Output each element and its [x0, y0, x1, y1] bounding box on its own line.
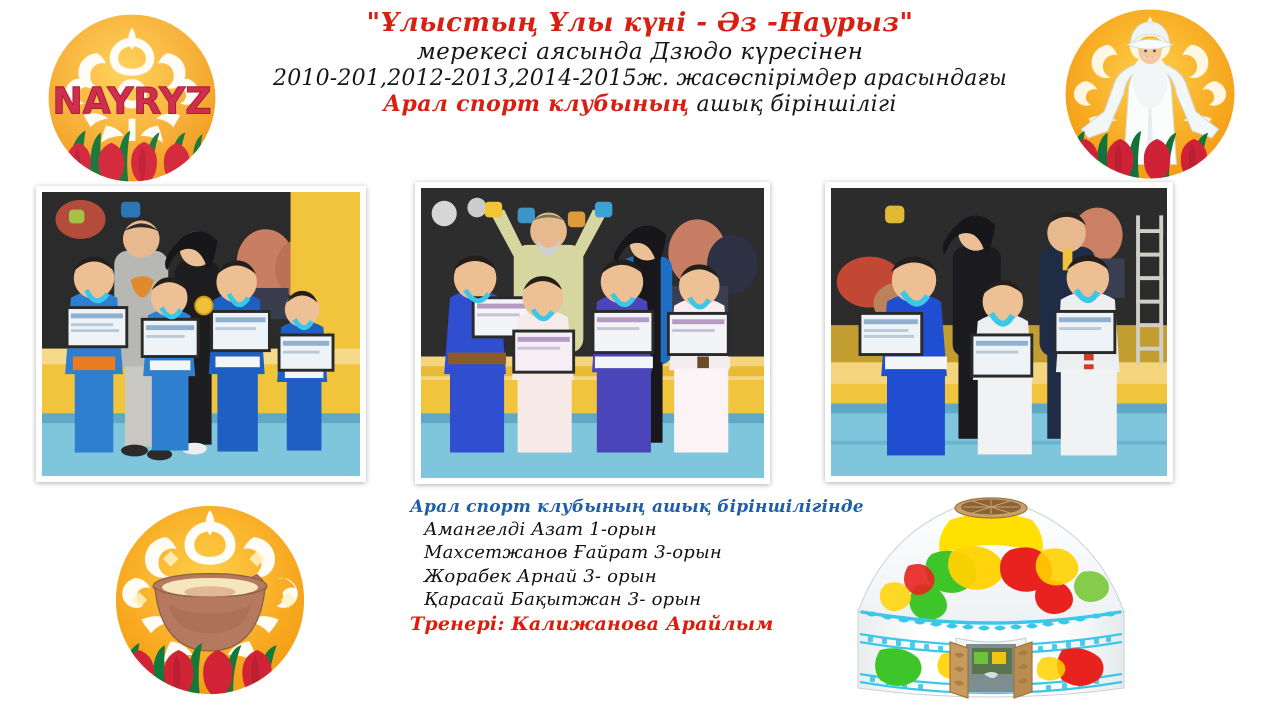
- team-photo-right: [825, 182, 1173, 482]
- kazakh-yurt-illustration: [846, 492, 1136, 710]
- title-line-2: мерекесі аясында Дзюдо күресінен: [220, 39, 1060, 66]
- title-line-1: "Ұлыстың Ұлы күні - Әз -Наурыз": [220, 8, 1060, 39]
- result-entry-1: Амангелді Азат 1-орын: [410, 518, 810, 541]
- poster-slide: "Ұлыстың Ұлы күні - Әз -Наурыз" мерекесі…: [0, 0, 1280, 720]
- title-line-4-suffix: ашық біріншілігі: [689, 92, 896, 117]
- team-photo-left-image: [42, 192, 360, 476]
- result-entry-4: Қарасай Бақытжан 3- орын: [410, 588, 810, 611]
- poster-title-block: "Ұлыстың Ұлы күні - Әз -Наурыз" мерекесі…: [220, 8, 1060, 118]
- team-photo-middle: [415, 182, 770, 484]
- results-heading: Арал спорт клубының ашық біріншілігінде: [410, 496, 810, 518]
- title-line-4-club: Арал спорт клубының: [383, 91, 689, 117]
- team-photo-middle-image: [421, 188, 764, 478]
- results-block: Арал спорт клубының ашық біріншілігінде …: [410, 496, 810, 636]
- results-coach: Тренері: Калижанова Арайлым: [410, 612, 810, 637]
- team-photo-right-image: [831, 188, 1167, 476]
- title-line-3: 2010-201,2012-2013,2014-2015ж. жасөспірі…: [220, 66, 1060, 92]
- nauryz-kozhe-badge: [112, 502, 308, 698]
- nayryz-logo-text: NAYRYZ: [52, 79, 211, 122]
- team-photo-left: [36, 186, 366, 482]
- result-entry-3: Жорабек Арнай 3- орын: [410, 565, 810, 588]
- title-line-4: Арал спорт клубының ашық біріншілігі: [220, 92, 1060, 118]
- result-entry-2: Махсетжанов Ғайрат 3-орын: [410, 541, 810, 564]
- nauryz-elder-badge: [1062, 6, 1238, 182]
- nayryz-logo: NAYRYZ: [46, 12, 218, 184]
